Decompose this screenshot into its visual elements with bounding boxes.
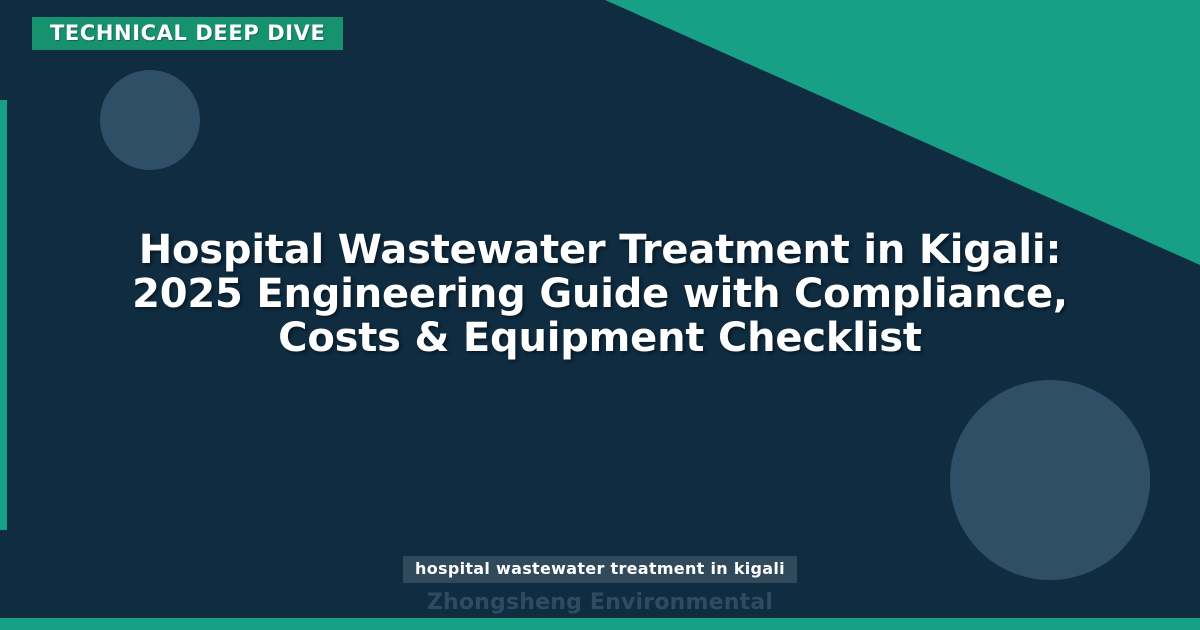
category-badge: TECHNICAL DEEP DIVE (32, 17, 343, 50)
decorative-circle-top (100, 70, 200, 170)
left-accent-bar (0, 100, 7, 530)
keyword-chip: hospital wastewater treatment in kigali (403, 556, 797, 583)
page-title: Hospital Wastewater Treatment in Kigali:… (100, 228, 1100, 360)
social-card-canvas: TECHNICAL DEEP DIVE Hospital Wastewater … (0, 0, 1200, 630)
brand-name: Zhongsheng Environmental (427, 590, 773, 615)
keyword-chip-container: hospital wastewater treatment in kigali (0, 556, 1200, 583)
brand-container: Zhongsheng Environmental (0, 590, 1200, 615)
decorative-circle-bottom (950, 380, 1150, 580)
bottom-accent-bar (0, 618, 1200, 630)
